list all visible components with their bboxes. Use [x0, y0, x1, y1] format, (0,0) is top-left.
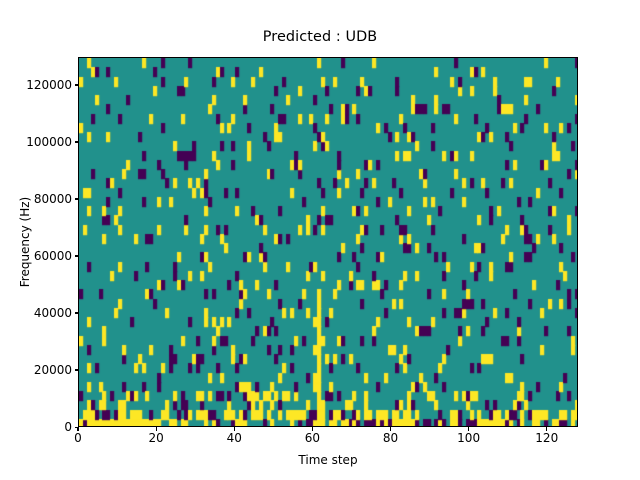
x-tick-label: 120: [527, 431, 567, 445]
chart-title: Predicted : UDB: [0, 29, 640, 45]
x-tick-label: 20: [136, 431, 176, 445]
y-tick-label: 100000: [4, 135, 72, 149]
y-tick-label: 120000: [4, 78, 72, 92]
figure-canvas: Predicted : UDB Frequency (Hz) 020000400…: [0, 0, 640, 480]
x-tick-mark: [156, 427, 157, 431]
x-tick-label: 0: [58, 431, 98, 445]
x-tick-mark: [312, 427, 313, 431]
x-tick-label: 40: [214, 431, 254, 445]
y-tick-label: 60000: [4, 249, 72, 263]
y-tick-label: 20000: [4, 363, 72, 377]
y-tick-label: 40000: [4, 306, 72, 320]
x-tick-label: 100: [449, 431, 489, 445]
x-tick-mark: [546, 427, 547, 431]
x-tick-label: 80: [371, 431, 411, 445]
heatmap-image: [79, 58, 578, 427]
x-tick-mark: [390, 427, 391, 431]
x-tick-label: 60: [292, 431, 332, 445]
y-tick-label: 80000: [4, 192, 72, 206]
x-axis-label: Time step: [78, 453, 578, 467]
x-tick-mark: [77, 427, 78, 431]
x-tick-mark: [468, 427, 469, 431]
heatmap-axes: [78, 57, 578, 427]
x-tick-mark: [234, 427, 235, 431]
